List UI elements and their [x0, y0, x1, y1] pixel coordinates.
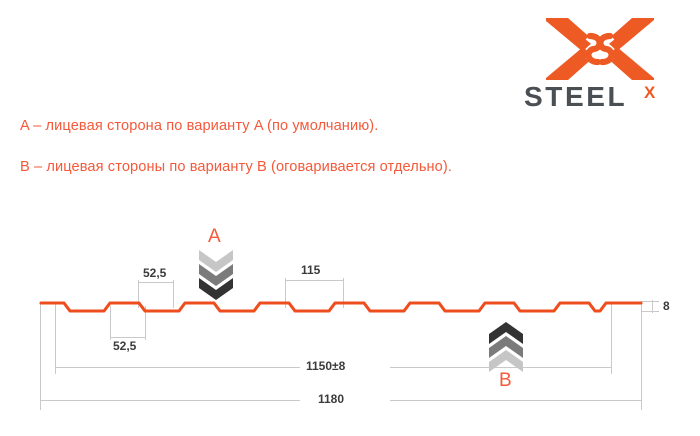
steelx-x-logo-icon: [546, 18, 654, 80]
dimension-label-effective-width: 1150±8: [306, 359, 345, 373]
side-marker-a-label: A: [208, 226, 221, 248]
brand-wordmark-superscript: X: [644, 83, 656, 102]
side-marker-a-chevrons: [199, 250, 233, 300]
dimension-label-pitch: 115: [301, 263, 320, 277]
note-variant-b: B – лицевая стороны по варианту B (огова…: [20, 159, 452, 175]
profile-technical-drawing: 52,5 52,5 115 8 1150±8 1180 A B: [0, 222, 700, 422]
brand-wordmark-text: STEEL: [524, 81, 627, 112]
note-variant-a: A – лицевая сторона по варианту A (по ум…: [20, 118, 378, 134]
dimension-label-total-width: 1180: [318, 392, 344, 406]
brand-wordmark: STEEL X: [524, 80, 674, 114]
brand-logo: STEEL X: [524, 18, 674, 114]
dimension-label-rib-top-width: 52,5: [143, 266, 166, 280]
screenshot-root: STEEL X A – лицевая сторона по варианту …: [0, 0, 700, 436]
corrugated-profile-line: [41, 303, 641, 311]
dimension-label-rib-height: 8: [663, 299, 670, 313]
dimension-label-rib-bottom-width: 52,5: [113, 339, 136, 353]
side-marker-b-label: B: [499, 370, 512, 392]
side-marker-b-chevrons: [489, 322, 523, 372]
